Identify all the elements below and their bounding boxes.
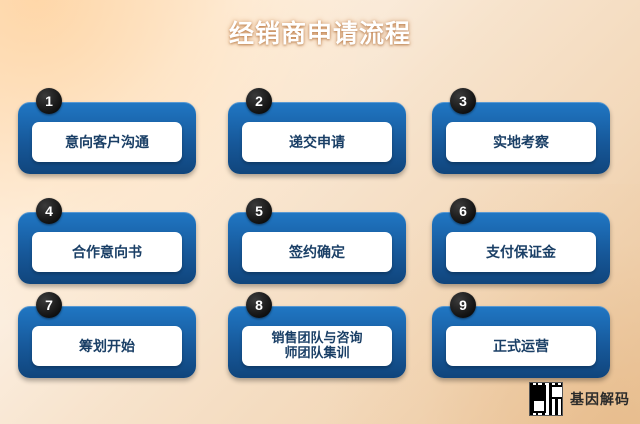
steps-grid: 1 意向客户沟通 2 递交申请 3 实地考察 4 合作意向书 5 签约确定 6 [0, 70, 640, 390]
step-1-label: 意向客户沟通 [32, 122, 182, 162]
step-7-label: 筹划开始 [32, 326, 182, 366]
step-4-label: 合作意向书 [32, 232, 182, 272]
step-2[interactable]: 2 递交申请 [228, 88, 406, 174]
step-2-number: 2 [246, 88, 272, 114]
step-2-label: 递交申请 [242, 122, 392, 162]
step-1[interactable]: 1 意向客户沟通 [18, 88, 196, 174]
qr-finder-icon [532, 399, 546, 413]
step-1-number: 1 [36, 88, 62, 114]
footer-branding: 基因解码 [529, 382, 630, 416]
brand-name: 基因解码 [570, 389, 630, 409]
step-7-number: 7 [36, 292, 62, 318]
step-4[interactable]: 4 合作意向书 [18, 198, 196, 284]
step-8-label: 销售团队与咨询 师团队集训 [242, 326, 392, 366]
step-9[interactable]: 9 正式运营 [432, 292, 610, 378]
step-8-label-line-2: 师团队集训 [284, 345, 349, 360]
step-6[interactable]: 6 支付保证金 [432, 198, 610, 284]
page-title: 经销商申请流程 [0, 14, 640, 50]
step-7[interactable]: 7 筹划开始 [18, 292, 196, 378]
step-8[interactable]: 8 销售团队与咨询 师团队集训 [228, 292, 406, 378]
step-3[interactable]: 3 实地考察 [432, 88, 610, 174]
step-3-number: 3 [450, 88, 476, 114]
step-5-number: 5 [246, 198, 272, 224]
step-5[interactable]: 5 签约确定 [228, 198, 406, 284]
step-8-label-line-1: 销售团队与咨询 [271, 330, 362, 345]
step-8-number: 8 [246, 292, 272, 318]
flowchart-canvas: 经销商申请流程 1 意向客户沟通 2 递交申请 3 实地考察 4 合作意向书 5 [0, 0, 640, 424]
qr-code-icon [529, 382, 563, 416]
step-4-number: 4 [36, 198, 62, 224]
step-5-label: 签约确定 [242, 232, 392, 272]
step-6-label: 支付保证金 [446, 232, 596, 272]
step-6-number: 6 [450, 198, 476, 224]
step-9-number: 9 [450, 292, 476, 318]
step-3-label: 实地考察 [446, 122, 596, 162]
step-9-label: 正式运营 [446, 326, 596, 366]
